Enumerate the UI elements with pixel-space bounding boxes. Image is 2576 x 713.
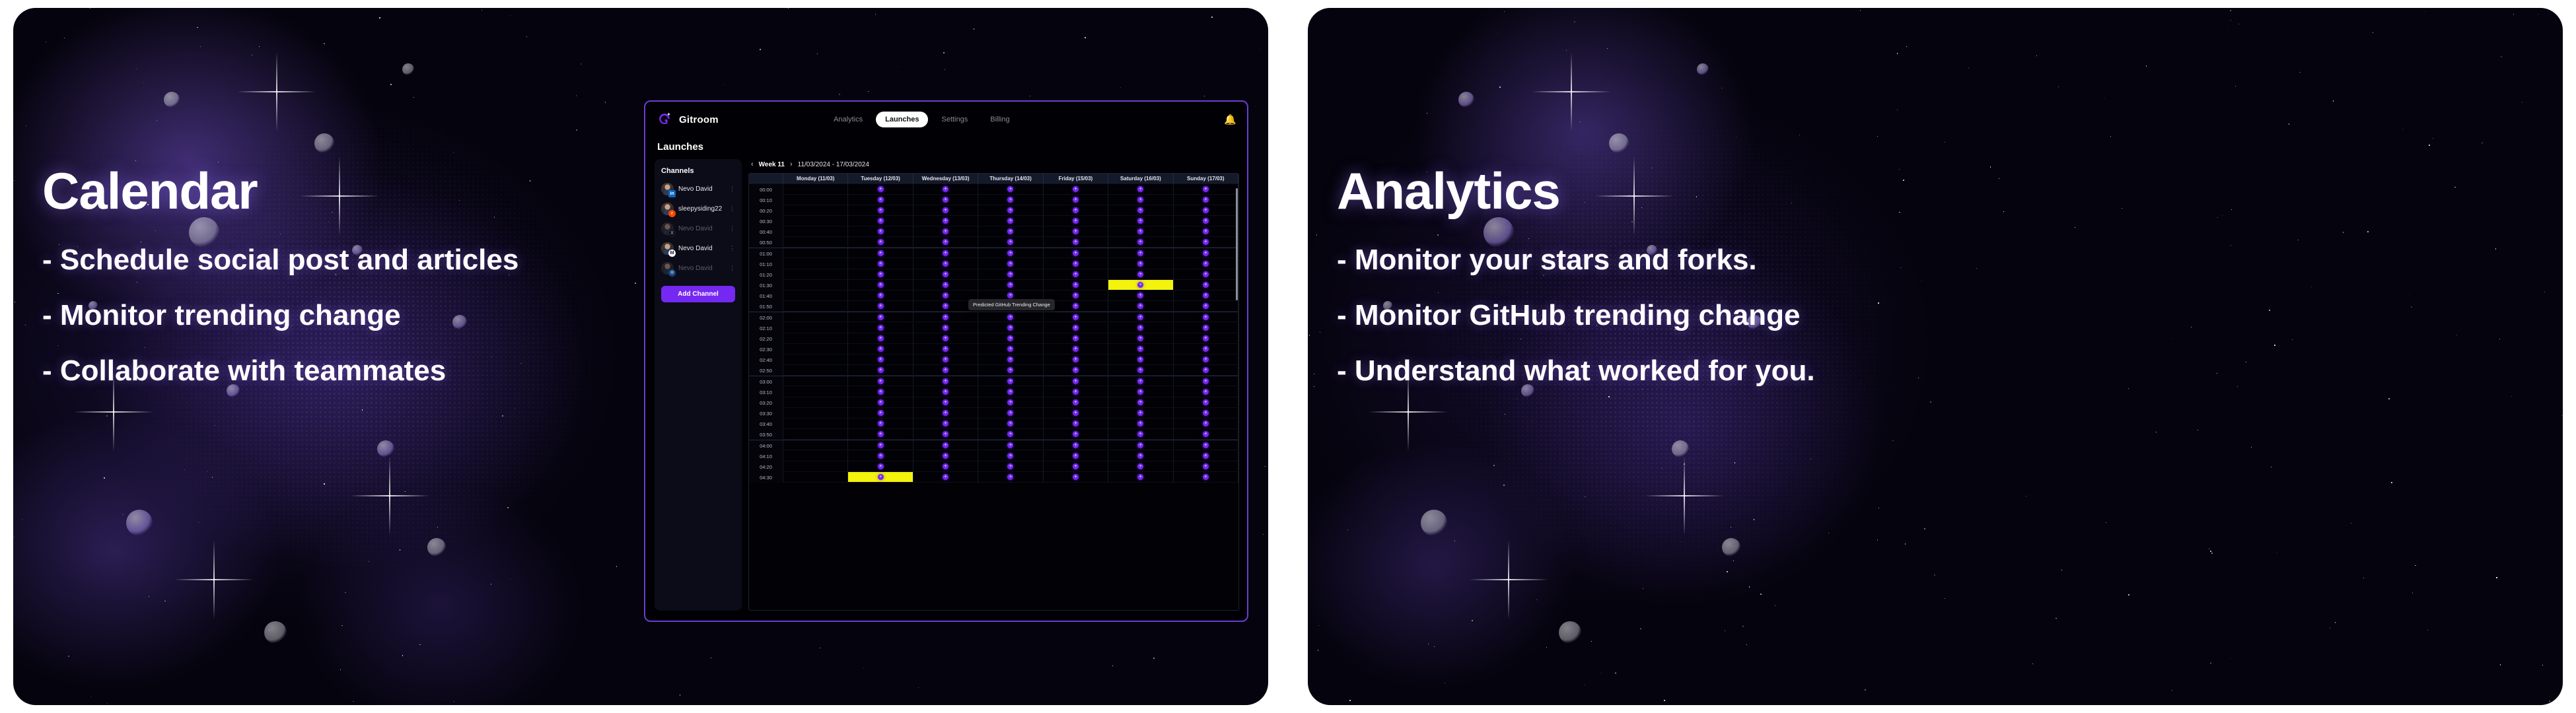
calendar-slot[interactable]: +	[1044, 280, 1108, 290]
plus-icon[interactable]: +	[1203, 218, 1209, 224]
calendar-slot[interactable]	[783, 259, 848, 269]
plus-icon[interactable]: +	[878, 303, 884, 309]
plus-icon[interactable]: +	[1137, 314, 1143, 320]
plus-icon[interactable]: +	[1203, 292, 1209, 298]
plus-icon[interactable]: +	[1203, 346, 1209, 352]
calendar-slot[interactable]: +	[1044, 376, 1108, 386]
plus-icon[interactable]: +	[943, 186, 948, 192]
plus-icon[interactable]: +	[1137, 453, 1143, 459]
calendar-slot[interactable]: +	[1044, 397, 1108, 408]
calendar-slot[interactable]: +	[978, 387, 1043, 397]
calendar-slot[interactable]: +	[848, 344, 913, 355]
plus-icon[interactable]: +	[1007, 335, 1013, 341]
plus-icon[interactable]: +	[1073, 453, 1079, 459]
plus-icon[interactable]: +	[878, 463, 884, 469]
plus-icon[interactable]: +	[943, 292, 948, 298]
plus-icon[interactable]: +	[1203, 335, 1209, 341]
calendar-slot[interactable]: +	[848, 472, 913, 483]
calendar-slot[interactable]: +	[1174, 301, 1238, 312]
calendar-slot[interactable]	[783, 269, 848, 280]
calendar-slot[interactable]: +	[1174, 397, 1238, 408]
calendar-slot[interactable]: +	[978, 226, 1043, 237]
plus-icon[interactable]: +	[1073, 410, 1079, 416]
calendar-slot[interactable]	[783, 248, 848, 258]
plus-icon[interactable]: +	[878, 186, 884, 192]
calendar-slot[interactable]: +	[1174, 365, 1238, 376]
calendar-slot[interactable]: +	[913, 323, 978, 333]
calendar-slot[interactable]: +	[1174, 195, 1238, 205]
plus-icon[interactable]: +	[1203, 325, 1209, 331]
plus-icon[interactable]: +	[1203, 197, 1209, 203]
plus-icon[interactable]: +	[878, 228, 884, 234]
plus-icon[interactable]: +	[878, 399, 884, 405]
plus-icon[interactable]: +	[943, 474, 948, 480]
plus-icon[interactable]: +	[1007, 228, 1013, 234]
calendar-slot[interactable]: +	[1044, 461, 1108, 472]
calendar-slot[interactable]	[783, 451, 848, 461]
calendar-slot[interactable]: +	[913, 312, 978, 322]
calendar-slot[interactable]: +	[848, 301, 913, 312]
calendar-slot[interactable]: +	[978, 408, 1043, 419]
calendar-slot[interactable]: +	[1174, 408, 1238, 419]
plus-icon[interactable]: +	[1137, 474, 1143, 480]
calendar-slot[interactable]: +	[913, 280, 978, 290]
calendar-slot[interactable]: +	[913, 440, 978, 450]
plus-icon[interactable]: +	[943, 282, 948, 288]
plus-icon[interactable]: +	[1073, 250, 1079, 256]
channel-item[interactable]: X Nevo David ⋮	[661, 222, 735, 235]
calendar-slot[interactable]: +	[1108, 472, 1173, 483]
calendar-slot[interactable]: +	[1044, 472, 1108, 483]
plus-icon[interactable]: +	[1073, 399, 1079, 405]
calendar-slot[interactable]: +	[1108, 419, 1173, 429]
plus-icon[interactable]: +	[1137, 197, 1143, 203]
calendar-slot[interactable]	[783, 184, 848, 195]
plus-icon[interactable]: +	[1007, 474, 1013, 480]
calendar-slot[interactable]: +	[1174, 429, 1238, 440]
plus-icon[interactable]: +	[1203, 453, 1209, 459]
plus-icon[interactable]: +	[1203, 303, 1209, 309]
plus-icon[interactable]: +	[1203, 389, 1209, 395]
plus-icon[interactable]: +	[1007, 250, 1013, 256]
plus-icon[interactable]: +	[1073, 431, 1079, 437]
plus-icon[interactable]: +	[1203, 474, 1209, 480]
calendar-slot[interactable]: +	[848, 226, 913, 237]
calendar-slot[interactable]	[783, 290, 848, 301]
calendar-slot[interactable]: +	[1044, 259, 1108, 269]
plus-icon[interactable]: +	[878, 421, 884, 426]
tab-billing[interactable]: Billing	[981, 112, 1019, 127]
calendar-slot[interactable]: +	[978, 248, 1043, 258]
calendar-slot[interactable]: +	[1174, 461, 1238, 472]
plus-icon[interactable]: +	[943, 346, 948, 352]
plus-icon[interactable]: +	[1203, 186, 1209, 192]
calendar-slot[interactable]: +	[913, 387, 978, 397]
plus-icon[interactable]: +	[943, 442, 948, 448]
calendar-slot[interactable]: +	[1174, 290, 1238, 301]
plus-icon[interactable]: +	[1137, 228, 1143, 234]
calendar-slot[interactable]: +	[848, 312, 913, 322]
calendar-slot[interactable]: +	[1044, 312, 1108, 322]
calendar-slot[interactable]	[783, 344, 848, 355]
calendar-slot[interactable]: +	[978, 323, 1043, 333]
plus-icon[interactable]: +	[943, 421, 948, 426]
calendar-slot[interactable]: +	[1108, 237, 1173, 248]
plus-icon[interactable]: +	[878, 239, 884, 245]
plus-icon[interactable]: +	[1007, 261, 1013, 267]
plus-icon[interactable]: +	[1073, 335, 1079, 341]
calendar-slot[interactable]: +	[848, 355, 913, 365]
plus-icon[interactable]: +	[943, 197, 948, 203]
calendar-slot[interactable]: +	[1108, 408, 1173, 419]
plus-icon[interactable]: +	[1073, 303, 1079, 309]
channel-menu-icon[interactable]: ⋮	[729, 266, 735, 270]
plus-icon[interactable]: +	[1137, 399, 1143, 405]
plus-icon[interactable]: +	[1007, 453, 1013, 459]
calendar-slot[interactable]: +	[978, 237, 1043, 248]
plus-icon[interactable]: +	[878, 367, 884, 373]
calendar-slot[interactable]: +	[1108, 376, 1173, 386]
plus-icon[interactable]: +	[878, 325, 884, 331]
plus-icon[interactable]: +	[1203, 421, 1209, 426]
calendar-slot[interactable]	[783, 365, 848, 376]
calendar-slot[interactable]: +	[913, 451, 978, 461]
plus-icon[interactable]: +	[1007, 421, 1013, 426]
plus-icon[interactable]: +	[878, 207, 884, 213]
plus-icon[interactable]: +	[1007, 186, 1013, 192]
add-channel-button[interactable]: Add Channel	[661, 286, 735, 302]
plus-icon[interactable]: +	[878, 378, 884, 384]
plus-icon[interactable]: +	[1203, 463, 1209, 469]
plus-icon[interactable]: +	[943, 228, 948, 234]
calendar-slot[interactable]: +	[1174, 259, 1238, 269]
plus-icon[interactable]: +	[1203, 442, 1209, 448]
plus-icon[interactable]: +	[1137, 250, 1143, 256]
calendar-slot[interactable]: +	[848, 248, 913, 258]
calendar-slot[interactable]: +	[1174, 472, 1238, 483]
plus-icon[interactable]: +	[943, 218, 948, 224]
calendar-slot[interactable]: +	[1108, 440, 1173, 450]
chevron-right-icon[interactable]: ›	[790, 160, 793, 168]
calendar-slot[interactable]: +	[848, 440, 913, 450]
plus-icon[interactable]: +	[1007, 271, 1013, 277]
calendar-slot[interactable]: +	[848, 419, 913, 429]
plus-icon[interactable]: +	[1203, 261, 1209, 267]
plus-icon[interactable]: +	[1007, 325, 1013, 331]
calendar-slot[interactable]: +	[1108, 429, 1173, 440]
plus-icon[interactable]: +	[1073, 474, 1079, 480]
calendar-slot[interactable]: +	[1108, 365, 1173, 376]
calendar-slot[interactable]: +	[978, 429, 1043, 440]
calendar-slot[interactable]: +	[978, 216, 1043, 226]
plus-icon[interactable]: +	[878, 197, 884, 203]
calendar-slot[interactable]: +	[913, 333, 978, 344]
calendar-slot[interactable]: +	[848, 376, 913, 386]
calendar-slot[interactable]: +	[848, 259, 913, 269]
calendar-slot[interactable]: +	[1108, 344, 1173, 355]
channel-menu-icon[interactable]: ⋮	[729, 226, 735, 230]
calendar-slot[interactable]: +	[1108, 461, 1173, 472]
plus-icon[interactable]: +	[1203, 367, 1209, 373]
plus-icon[interactable]: +	[1073, 218, 1079, 224]
plus-icon[interactable]: +	[1137, 292, 1143, 298]
plus-icon[interactable]: +	[943, 325, 948, 331]
plus-icon[interactable]: +	[1137, 303, 1143, 309]
calendar-slot[interactable]	[783, 355, 848, 365]
plus-icon[interactable]: +	[1137, 207, 1143, 213]
plus-icon[interactable]: +	[1073, 207, 1079, 213]
plus-icon[interactable]: +	[943, 399, 948, 405]
plus-icon[interactable]: +	[1203, 314, 1209, 320]
plus-icon[interactable]: +	[1137, 410, 1143, 416]
calendar-slot[interactable]: +	[913, 472, 978, 483]
plus-icon[interactable]: +	[1007, 282, 1013, 288]
calendar-slot[interactable]: +	[1044, 387, 1108, 397]
calendar-slot[interactable]	[783, 461, 848, 472]
plus-icon[interactable]: +	[943, 239, 948, 245]
plus-icon[interactable]: +	[1007, 218, 1013, 224]
plus-icon[interactable]: +	[1137, 282, 1143, 288]
calendar-slot[interactable]: +	[978, 269, 1043, 280]
plus-icon[interactable]: +	[1007, 410, 1013, 416]
plus-icon[interactable]: +	[1007, 314, 1013, 320]
plus-icon[interactable]: +	[943, 431, 948, 437]
calendar-slot[interactable]	[783, 237, 848, 248]
plus-icon[interactable]: +	[1203, 399, 1209, 405]
calendar-slot[interactable]: +	[1044, 429, 1108, 440]
calendar-slot[interactable]: +	[848, 387, 913, 397]
calendar-slot[interactable]: +	[913, 397, 978, 408]
calendar-slot[interactable]: +	[848, 184, 913, 195]
plus-icon[interactable]: +	[1203, 239, 1209, 245]
calendar-slot[interactable]: +	[1174, 323, 1238, 333]
calendar-slot[interactable]: +	[1174, 226, 1238, 237]
calendar-slot[interactable]: +	[1044, 216, 1108, 226]
calendar-slot[interactable]: +	[848, 365, 913, 376]
calendar-slot[interactable]: +	[1174, 440, 1238, 450]
calendar-slot[interactable]: +	[1174, 376, 1238, 386]
plus-icon[interactable]: +	[1073, 463, 1079, 469]
plus-icon[interactable]: +	[943, 314, 948, 320]
plus-icon[interactable]: +	[878, 356, 884, 362]
plus-icon[interactable]: +	[1203, 207, 1209, 213]
plus-icon[interactable]: +	[1203, 250, 1209, 256]
plus-icon[interactable]: +	[1137, 442, 1143, 448]
calendar-slot[interactable]: +	[1174, 312, 1238, 322]
calendar-slot[interactable]: +	[1044, 226, 1108, 237]
calendar-slot[interactable]: +	[913, 205, 978, 216]
calendar-slot[interactable]: +	[1108, 290, 1173, 301]
plus-icon[interactable]: +	[943, 303, 948, 309]
calendar-slot[interactable]: +	[1108, 451, 1173, 461]
calendar-slot[interactable]: +	[1108, 301, 1173, 312]
calendar-slot[interactable]: +	[913, 195, 978, 205]
plus-icon[interactable]: +	[1137, 261, 1143, 267]
calendar-slot[interactable]	[783, 323, 848, 333]
plus-icon[interactable]: +	[878, 389, 884, 395]
calendar-slot[interactable]: +	[913, 184, 978, 195]
plus-icon[interactable]: +	[943, 207, 948, 213]
plus-icon[interactable]: +	[1073, 271, 1079, 277]
tab-launches[interactable]: Launches	[876, 112, 928, 127]
tab-settings[interactable]: Settings	[932, 112, 977, 127]
calendar-slot[interactable]: +	[978, 205, 1043, 216]
calendar-slot[interactable]: +	[978, 461, 1043, 472]
calendar-slot[interactable]	[783, 408, 848, 419]
calendar-slot[interactable]: +	[978, 312, 1043, 322]
plus-icon[interactable]: +	[1007, 431, 1013, 437]
plus-icon[interactable]: +	[1203, 271, 1209, 277]
calendar-slot[interactable]: +	[1108, 259, 1173, 269]
plus-icon[interactable]: +	[943, 335, 948, 341]
plus-icon[interactable]: +	[943, 261, 948, 267]
plus-icon[interactable]: +	[1073, 197, 1079, 203]
plus-icon[interactable]: +	[878, 346, 884, 352]
calendar-slot[interactable]: +	[1174, 205, 1238, 216]
calendar-slot[interactable]	[783, 216, 848, 226]
plus-icon[interactable]: +	[943, 250, 948, 256]
calendar-slot[interactable]: +	[1044, 248, 1108, 258]
calendar-slot[interactable]: +	[1174, 248, 1238, 258]
plus-icon[interactable]: +	[943, 410, 948, 416]
plus-icon[interactable]: +	[1073, 314, 1079, 320]
plus-icon[interactable]: +	[1137, 271, 1143, 277]
calendar-slot[interactable]: +	[1044, 365, 1108, 376]
plus-icon[interactable]: +	[1007, 463, 1013, 469]
plus-icon[interactable]: +	[1137, 239, 1143, 245]
plus-icon[interactable]: +	[1137, 186, 1143, 192]
plus-icon[interactable]: +	[1203, 431, 1209, 437]
calendar-slot[interactable]: +	[848, 397, 913, 408]
channel-item[interactable]: ✺ Nevo David ⋮	[661, 262, 735, 275]
calendar-slot[interactable]	[783, 397, 848, 408]
plus-icon[interactable]: +	[878, 335, 884, 341]
plus-icon[interactable]: +	[878, 474, 884, 480]
plus-icon[interactable]: +	[878, 250, 884, 256]
plus-icon[interactable]: +	[1137, 218, 1143, 224]
plus-icon[interactable]: +	[1073, 367, 1079, 373]
calendar-slot[interactable]	[783, 376, 848, 386]
plus-icon[interactable]: +	[1073, 292, 1079, 298]
calendar-slot[interactable]: +	[913, 344, 978, 355]
plus-icon[interactable]: +	[1073, 261, 1079, 267]
calendar-slot[interactable]: +	[1044, 451, 1108, 461]
calendar-slot[interactable]: +	[1174, 216, 1238, 226]
calendar-slot[interactable]: +	[978, 355, 1043, 365]
plus-icon[interactable]: +	[1137, 463, 1143, 469]
calendar-slot[interactable]: +	[913, 226, 978, 237]
calendar-slot[interactable]: +	[978, 419, 1043, 429]
calendar-slot[interactable]: +	[1108, 397, 1173, 408]
plus-icon[interactable]: +	[1137, 378, 1143, 384]
calendar-slot[interactable]: +	[1174, 451, 1238, 461]
calendar-slot[interactable]: +	[1108, 387, 1173, 397]
calendar-slot[interactable]: +	[1108, 216, 1173, 226]
plus-icon[interactable]: +	[1007, 239, 1013, 245]
plus-icon[interactable]: +	[878, 282, 884, 288]
calendar-slot[interactable]: +	[913, 248, 978, 258]
calendar-slot[interactable]: +	[1108, 205, 1173, 216]
plus-icon[interactable]: +	[1137, 367, 1143, 373]
plus-icon[interactable]: +	[1073, 282, 1079, 288]
calendar-slot[interactable]	[783, 205, 848, 216]
calendar-slot[interactable]: +	[1044, 355, 1108, 365]
plus-icon[interactable]: +	[1073, 186, 1079, 192]
calendar-slot[interactable]: +	[848, 429, 913, 440]
calendar-slot[interactable]: +	[1044, 408, 1108, 419]
plus-icon[interactable]: +	[1073, 389, 1079, 395]
calendar-slot[interactable]	[783, 472, 848, 483]
calendar-slot[interactable]: +	[848, 290, 913, 301]
calendar-slot[interactable]: +	[848, 205, 913, 216]
plus-icon[interactable]: +	[1007, 346, 1013, 352]
calendar-slot[interactable]: +	[978, 376, 1043, 386]
calendar-slot[interactable]: +	[1044, 184, 1108, 195]
tab-analytics[interactable]: Analytics	[824, 112, 872, 127]
channel-menu-icon[interactable]: ⋮	[729, 207, 735, 211]
calendar-slot[interactable]: +	[848, 333, 913, 344]
calendar-slot[interactable]: +	[1108, 184, 1173, 195]
plus-icon[interactable]: +	[943, 389, 948, 395]
plus-icon[interactable]: +	[1073, 239, 1079, 245]
calendar-slot[interactable]: +	[913, 269, 978, 280]
plus-icon[interactable]: +	[1203, 228, 1209, 234]
calendar-slot[interactable]: +	[978, 397, 1043, 408]
plus-icon[interactable]: +	[878, 218, 884, 224]
calendar-scrollbar[interactable]	[1236, 188, 1238, 300]
plus-icon[interactable]: +	[1203, 356, 1209, 362]
calendar-slot[interactable]: +	[1174, 333, 1238, 344]
calendar-slot[interactable]: +	[913, 365, 978, 376]
channel-item[interactable]: in Nevo David ⋮	[661, 183, 735, 195]
plus-icon[interactable]: +	[1137, 346, 1143, 352]
channel-item[interactable]: r sleepysiding22 ⋮	[661, 203, 735, 215]
plus-icon[interactable]: +	[878, 292, 884, 298]
calendar-slot[interactable]: +	[1174, 419, 1238, 429]
calendar-slot[interactable]: +	[848, 195, 913, 205]
plus-icon[interactable]: +	[878, 453, 884, 459]
plus-icon[interactable]: +	[1007, 399, 1013, 405]
calendar-slot[interactable]: +	[1108, 333, 1173, 344]
calendar-slot[interactable]: +	[1108, 323, 1173, 333]
calendar-slot[interactable]: +	[913, 419, 978, 429]
calendar-slot[interactable]: +	[978, 440, 1043, 450]
calendar-slot[interactable]: +	[1044, 440, 1108, 450]
plus-icon[interactable]: +	[943, 453, 948, 459]
plus-icon[interactable]: +	[878, 431, 884, 437]
plus-icon[interactable]: +	[1073, 228, 1079, 234]
calendar-slot[interactable]: +	[1044, 419, 1108, 429]
calendar-slot[interactable]: +	[848, 461, 913, 472]
calendar-slot[interactable]: +	[978, 280, 1043, 290]
plus-icon[interactable]: +	[1203, 282, 1209, 288]
calendar-slot[interactable]: +	[913, 237, 978, 248]
calendar-slot[interactable]	[783, 333, 848, 344]
plus-icon[interactable]: +	[878, 271, 884, 277]
calendar-slot[interactable]: +	[978, 344, 1043, 355]
calendar-slot[interactable]: +	[978, 451, 1043, 461]
calendar-slot[interactable]	[783, 195, 848, 205]
plus-icon[interactable]: +	[1073, 421, 1079, 426]
calendar-slot[interactable]: +	[848, 280, 913, 290]
bell-icon[interactable]: 🔔	[1224, 115, 1236, 125]
calendar-slot[interactable]	[783, 226, 848, 237]
calendar-slot[interactable]: +	[978, 195, 1043, 205]
calendar-slot[interactable]: +	[1044, 205, 1108, 216]
calendar-slot[interactable]: +	[913, 259, 978, 269]
channel-item[interactable]: M Nevo David ⋮	[661, 242, 735, 255]
channel-menu-icon[interactable]: ⋮	[729, 246, 735, 250]
